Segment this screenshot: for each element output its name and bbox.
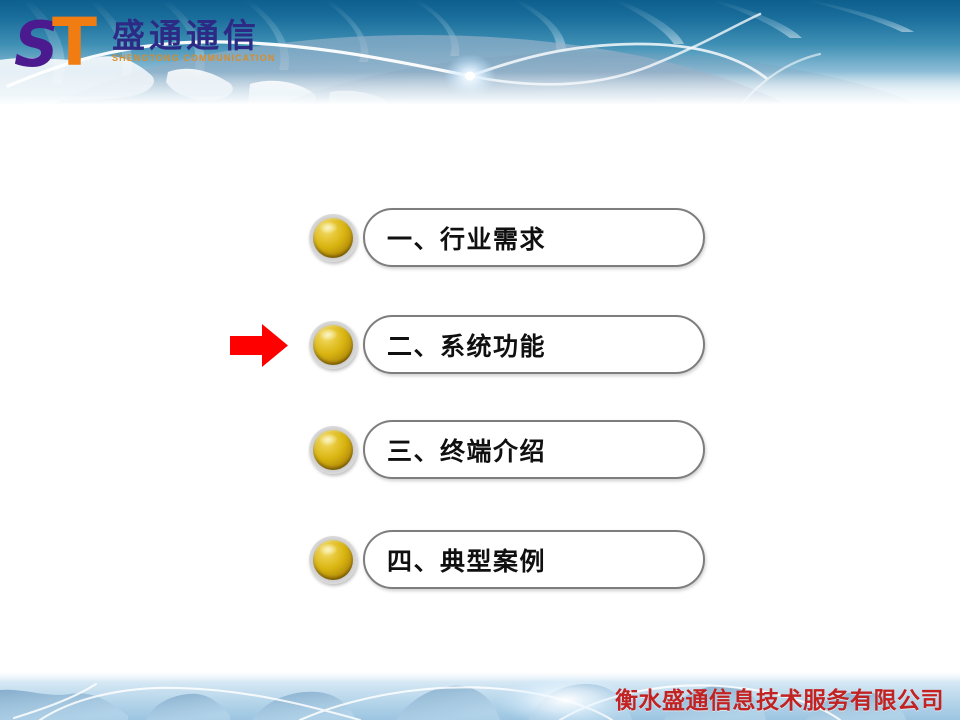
- agenda-item-1[interactable]: 一、行业需求: [0, 207, 960, 269]
- footer-company-name: 衡水盛通信息技术服务有限公司: [615, 681, 944, 715]
- gold-sphere-bullet-icon: [309, 426, 357, 474]
- agenda-pill-3[interactable]: 三、终端介绍: [363, 420, 705, 479]
- logo-wordmark: 盛通通信 SHENGTONG COMMUNICATION: [112, 14, 275, 64]
- agenda-pill-4[interactable]: 四、典型案例: [363, 530, 705, 589]
- footer-banner: 衡水盛通信息技术服务有限公司: [0, 672, 960, 720]
- gold-sphere-bullet-icon: [309, 214, 357, 262]
- bullet-highlight: [320, 329, 337, 340]
- agenda-item-3[interactable]: 三、终端介绍: [0, 419, 960, 481]
- agenda-item-4[interactable]: 四、典型案例: [0, 529, 960, 591]
- agenda-menu: 一、行业需求 二、系统功能 三、终端介: [0, 105, 960, 672]
- presentation-slide: S T 盛通通信 SHENGTONG COMMUNICATION 一、行业需求: [0, 0, 960, 720]
- gold-sphere-bullet-icon: [309, 536, 357, 584]
- logo-company-name-cn: 盛通通信: [112, 18, 275, 54]
- agenda-item-1-label: 一、行业需求: [387, 210, 546, 265]
- bullet-highlight: [320, 544, 337, 555]
- bullet-highlight: [320, 434, 337, 445]
- header-banner: S T 盛通通信 SHENGTONG COMMUNICATION: [0, 0, 960, 105]
- logo-letter-t: T: [52, 12, 97, 74]
- company-logo: S T 盛通通信 SHENGTONG COMMUNICATION: [14, 14, 275, 80]
- logo-company-name-en: SHENGTONG COMMUNICATION: [112, 53, 275, 64]
- logo-letter-s: S: [14, 16, 57, 74]
- agenda-item-2[interactable]: 二、系统功能: [0, 314, 960, 376]
- bullet-highlight: [320, 222, 337, 233]
- agenda-item-2-label: 二、系统功能: [387, 317, 546, 372]
- gold-sphere-bullet-icon: [309, 321, 357, 369]
- agenda-item-4-label: 四、典型案例: [387, 532, 546, 587]
- agenda-pill-1[interactable]: 一、行业需求: [363, 208, 705, 267]
- logo-mark-st: S T: [14, 14, 110, 76]
- agenda-item-3-label: 三、终端介绍: [387, 422, 546, 477]
- red-right-arrow-icon: [229, 323, 289, 368]
- agenda-pill-2[interactable]: 二、系统功能: [363, 315, 705, 374]
